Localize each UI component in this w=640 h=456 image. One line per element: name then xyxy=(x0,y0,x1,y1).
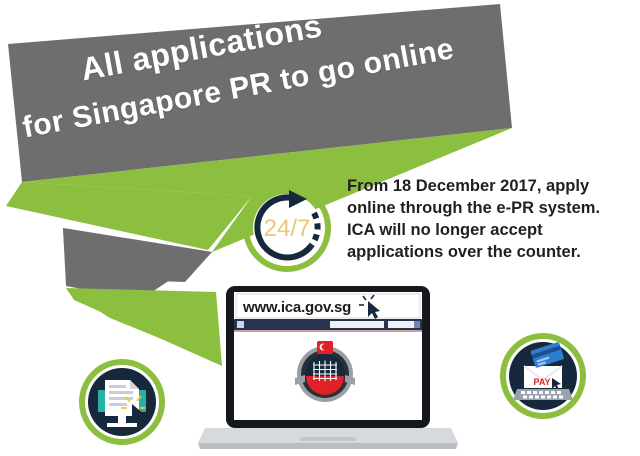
infographic-poster: All applications for Singapore PR to go … xyxy=(0,0,640,456)
payment-label: PAY xyxy=(533,377,550,387)
payment-badge: PAY xyxy=(0,0,640,456)
